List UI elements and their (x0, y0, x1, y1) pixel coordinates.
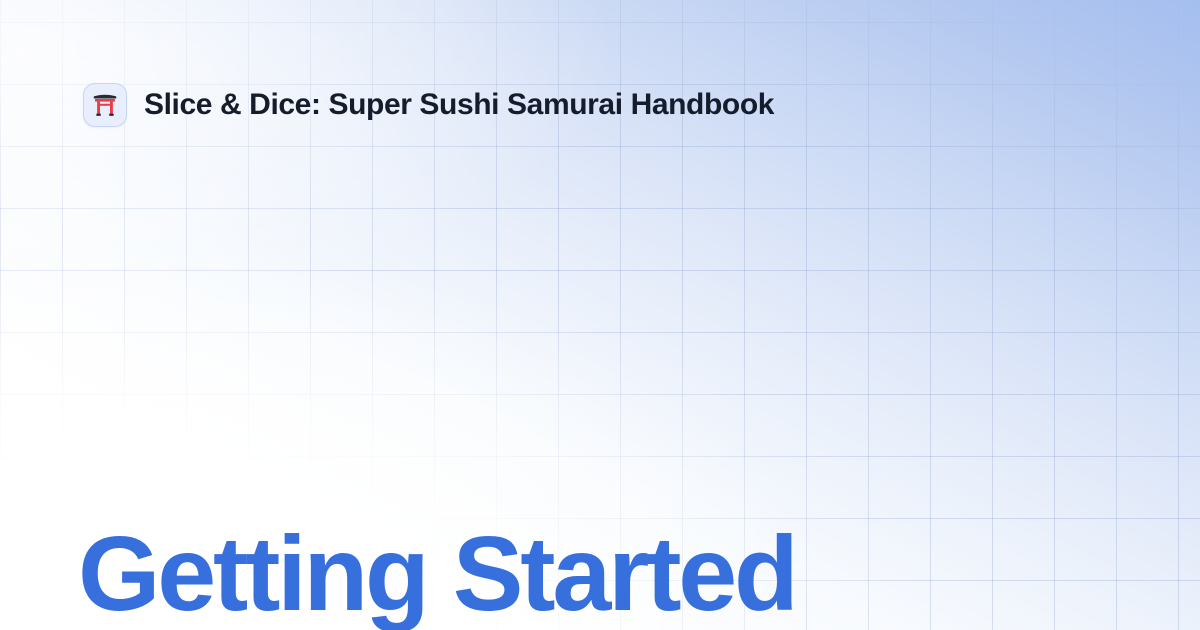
brand-badge (83, 83, 127, 127)
page-title: Getting Started (78, 519, 796, 630)
og-card: Slice & Dice: Super Sushi Samurai Handbo… (0, 0, 1200, 630)
torii-gate-icon (91, 91, 119, 119)
card-content: Slice & Dice: Super Sushi Samurai Handbo… (0, 0, 1200, 630)
brand-title: Slice & Dice: Super Sushi Samurai Handbo… (144, 90, 774, 120)
brand-row: Slice & Dice: Super Sushi Samurai Handbo… (83, 83, 774, 127)
